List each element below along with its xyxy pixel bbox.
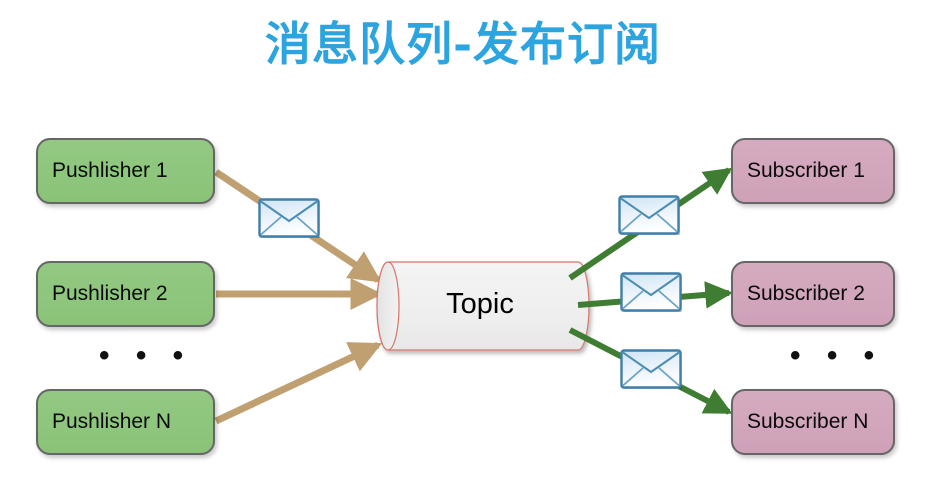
envelope-icon-subscribe-1 <box>618 195 680 235</box>
node-publisher-1[interactable]: Pushlisher 1 <box>36 138 215 204</box>
publishers-ellipsis: • • • <box>99 341 192 371</box>
diagram-canvas: 消息队列-发布订阅 <box>0 0 926 488</box>
envelope-icon-subscribe-2 <box>620 272 682 312</box>
node-subscriber-2[interactable]: Subscriber 2 <box>731 261 895 327</box>
node-subscriber-n[interactable]: Subscriber N <box>731 389 895 455</box>
subscribers-ellipsis: • • • <box>790 341 883 371</box>
node-subscriber-1-label: Subscriber 1 <box>747 159 865 183</box>
topic-label: Topic <box>395 288 565 321</box>
node-subscriber-1[interactable]: Subscriber 1 <box>731 138 895 204</box>
node-publisher-2[interactable]: Pushlisher 2 <box>36 261 215 327</box>
envelope-icon-publish-1 <box>258 198 320 238</box>
node-subscriber-n-label: Subscriber N <box>747 410 868 434</box>
arrow-publisher-n-to-topic <box>216 345 378 421</box>
node-publisher-1-label: Pushlisher 1 <box>52 159 168 183</box>
node-publisher-n[interactable]: Pushlisher N <box>36 389 215 455</box>
node-publisher-2-label: Pushlisher 2 <box>52 282 168 306</box>
envelope-icon-subscribe-3 <box>620 349 682 389</box>
node-publisher-n-label: Pushlisher N <box>52 410 171 434</box>
node-subscriber-2-label: Subscriber 2 <box>747 282 865 306</box>
